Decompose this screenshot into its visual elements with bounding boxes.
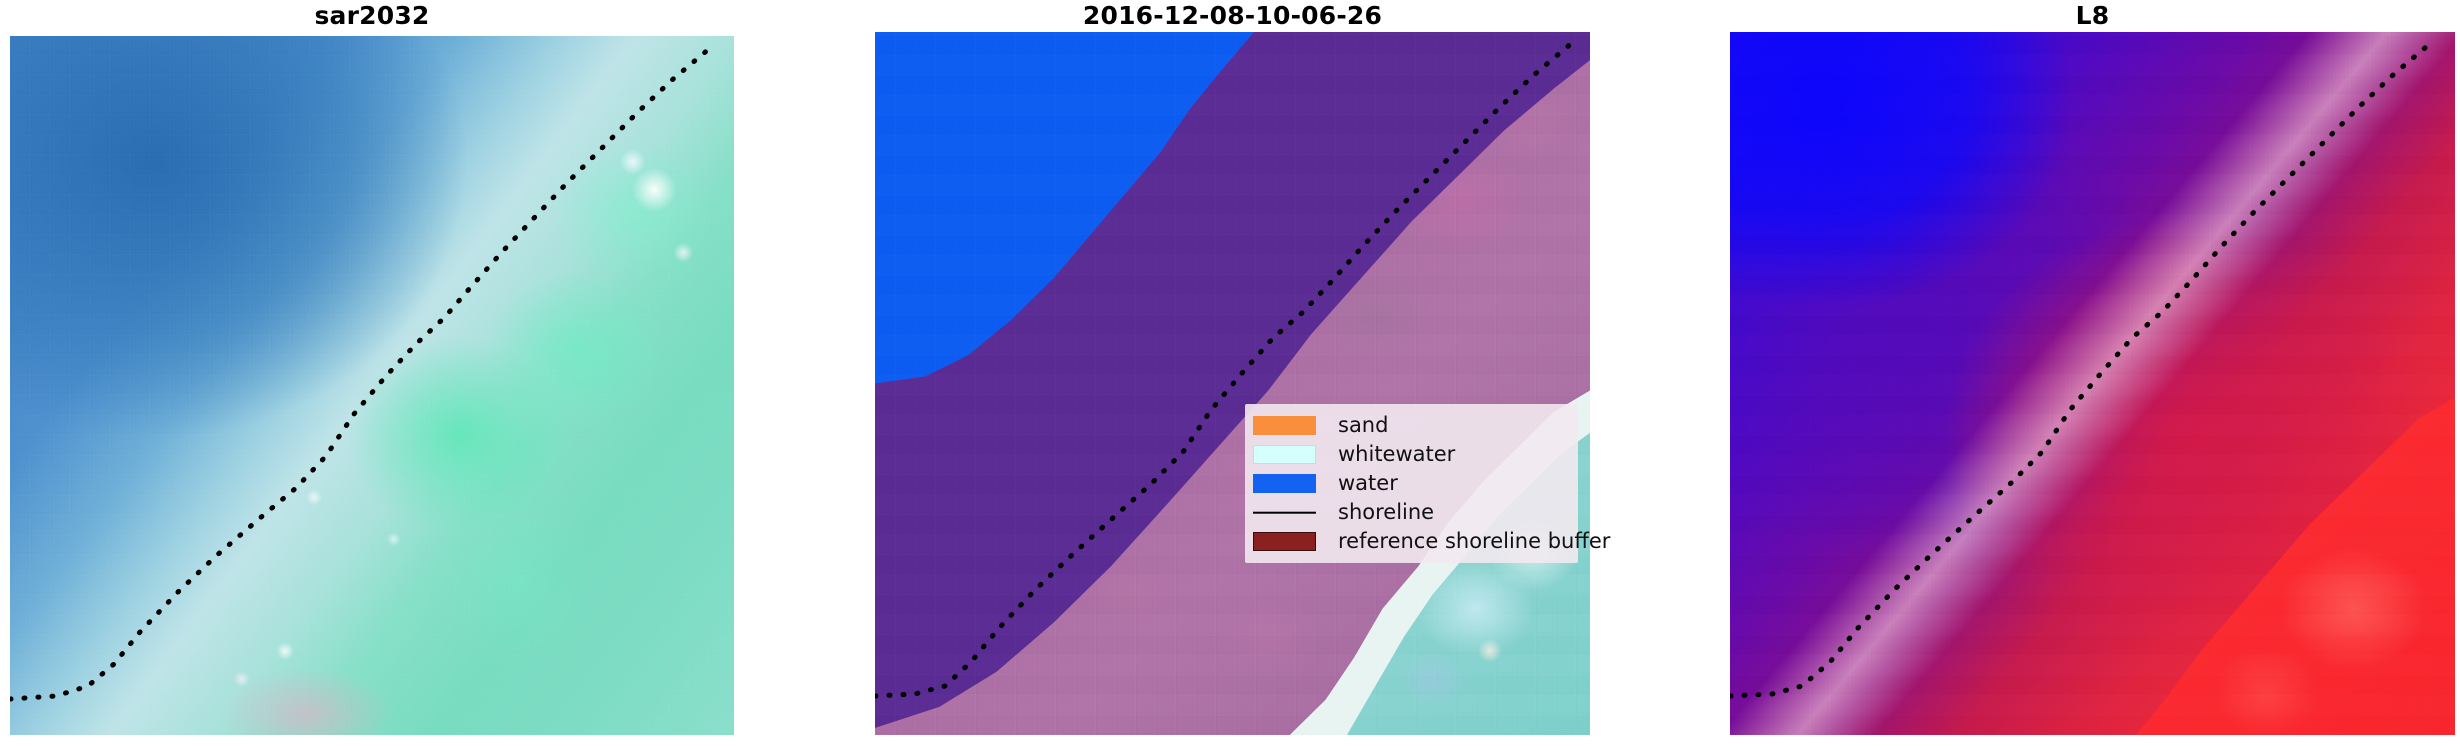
legend-swatch-wrap-reference-buffer bbox=[1253, 532, 1328, 551]
shoreline-line-icon bbox=[1253, 503, 1316, 522]
panel-title-l8: L8 bbox=[1730, 2, 2455, 30]
reference-buffer-swatch-icon bbox=[1253, 532, 1316, 551]
legend-item-sand: sand bbox=[1253, 411, 1568, 440]
panel-sar2032: sar2032 bbox=[10, 32, 734, 735]
legend-label-shoreline: shoreline bbox=[1338, 502, 1434, 523]
legend-swatch-wrap-whitewater bbox=[1253, 445, 1328, 464]
panel-title-sar2032: sar2032 bbox=[10, 2, 734, 30]
panel-title-classification: 2016-12-08-10-06-26 bbox=[875, 2, 1590, 30]
shoreline-overlay-classification bbox=[875, 32, 1590, 735]
legend-swatch-wrap-shoreline bbox=[1253, 503, 1328, 522]
legend-label-reference-shoreline-buffer: reference shoreline buffer bbox=[1338, 531, 1610, 552]
panel-classification: 2016-12-08-10-06-26 bbox=[875, 32, 1590, 735]
legend-swatch-wrap-water bbox=[1253, 474, 1328, 493]
legend-label-water: water bbox=[1338, 473, 1398, 494]
legend-item-reference-shoreline-buffer: reference shoreline buffer bbox=[1253, 527, 1568, 556]
panel-image-l8 bbox=[1730, 32, 2455, 735]
panel-image-classification bbox=[875, 32, 1590, 735]
legend-item-water: water bbox=[1253, 469, 1568, 498]
legend-label-sand: sand bbox=[1338, 415, 1388, 436]
legend-item-whitewater: whitewater bbox=[1253, 440, 1568, 469]
panel-image-sar2032 bbox=[10, 36, 734, 735]
water-swatch-icon bbox=[1253, 474, 1316, 493]
shoreline-overlay-sar2032 bbox=[10, 36, 734, 735]
sand-swatch-icon bbox=[1253, 416, 1316, 435]
legend-label-whitewater: whitewater bbox=[1338, 444, 1455, 465]
figure-root: sar2032 2016-12-08-10-06-26 bbox=[0, 0, 2460, 746]
legend-swatch-wrap-sand bbox=[1253, 416, 1328, 435]
panel-l8: L8 bbox=[1730, 32, 2455, 735]
legend-item-shoreline: shoreline bbox=[1253, 498, 1568, 527]
shoreline-overlay-l8 bbox=[1730, 32, 2455, 735]
legend: sand whitewater water shoreline referenc bbox=[1245, 404, 1578, 563]
whitewater-swatch-icon bbox=[1253, 445, 1316, 464]
